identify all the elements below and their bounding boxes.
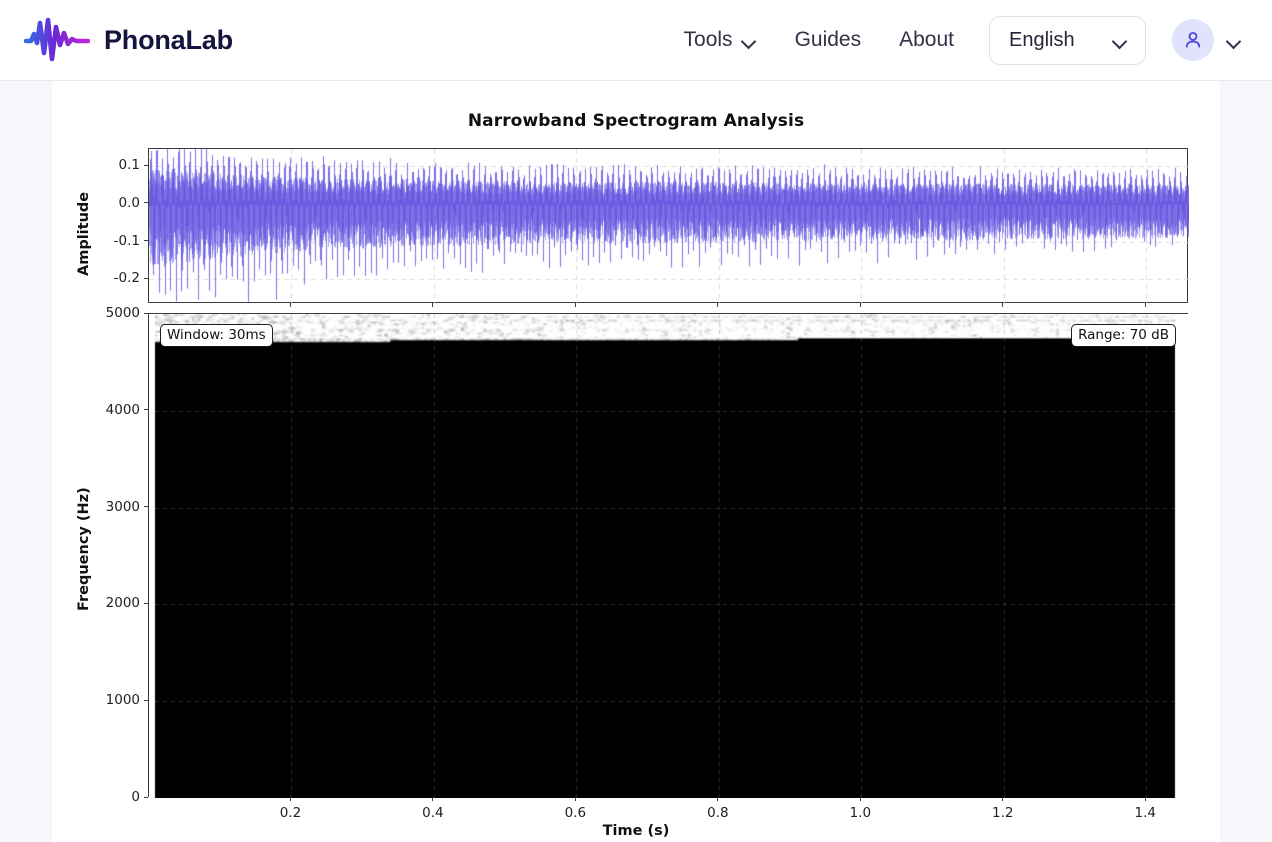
spectrogram-y-tick: 5000 [96, 305, 140, 321]
page-background: Narrowband Spectrogram Analysis Window: … [0, 81, 1272, 842]
x-tick: 1.4 [1135, 805, 1156, 821]
tick-mark [144, 700, 148, 701]
waveform-y-tick: 0.1 [102, 157, 140, 173]
spectrogram-y-tick: 3000 [96, 499, 140, 515]
tick-mark [717, 303, 718, 307]
nav-item-label: Guides [795, 28, 862, 52]
language-selector[interactable]: English [989, 16, 1146, 65]
waveform-y-axis-label: Amplitude [76, 192, 92, 276]
tick-mark [290, 797, 291, 801]
x-tick: 0.2 [280, 805, 301, 821]
avatar[interactable] [1172, 19, 1214, 61]
tick-mark [144, 165, 148, 166]
window-annotation: Window: 30ms [160, 324, 273, 347]
account-menu[interactable] [1172, 19, 1242, 61]
x-tick: 1.2 [992, 805, 1013, 821]
tick-mark [575, 797, 576, 801]
tick-mark [1002, 303, 1003, 307]
spectrogram-y-tick: 1000 [96, 692, 140, 708]
tick-mark [860, 303, 861, 307]
tick-mark [575, 303, 576, 307]
waveform-logo-icon [24, 17, 90, 63]
spectrogram-y-axis-label: Frequency (Hz) [76, 487, 92, 611]
page-title: Narrowband Spectrogram Analysis [52, 111, 1220, 131]
x-tick: 0.8 [707, 805, 728, 821]
x-tick: 0.6 [565, 805, 586, 821]
spectrogram-y-tick: 4000 [96, 402, 140, 418]
tick-mark [144, 603, 148, 604]
brand-name: PhonaLab [104, 25, 233, 56]
tick-mark [144, 506, 148, 507]
tick-mark [144, 202, 148, 203]
chevron-down-icon [1113, 36, 1128, 45]
tick-mark [1002, 797, 1003, 801]
chevron-down-icon [742, 36, 757, 45]
x-tick: 0.4 [422, 805, 443, 821]
tick-mark [432, 303, 433, 307]
tick-mark [1145, 303, 1146, 307]
nav-item-label: About [899, 28, 954, 52]
tick-mark [860, 797, 861, 801]
waveform-y-tick: -0.2 [102, 270, 140, 286]
tick-mark [432, 797, 433, 801]
spectrogram-y-tick: 2000 [96, 595, 140, 611]
nav-item-label: Tools [684, 28, 733, 52]
x-axis-label: Time (s) [52, 823, 1220, 839]
tick-mark [144, 240, 148, 241]
user-person-icon [1181, 28, 1205, 52]
spectrogram-figure: Narrowband Spectrogram Analysis Window: … [52, 81, 1220, 842]
brand[interactable]: PhonaLab [24, 17, 233, 63]
nav-item-tools[interactable]: Tools [665, 28, 776, 52]
tick-mark [144, 313, 148, 314]
tick-mark [144, 278, 148, 279]
tick-mark [144, 409, 148, 410]
waveform-plot[interactable] [148, 148, 1188, 303]
site-header: PhonaLab Tools Guides About English [0, 0, 1272, 81]
chevron-down-icon [1227, 36, 1242, 45]
nav-item-guides[interactable]: Guides [776, 28, 881, 52]
tick-mark [290, 303, 291, 307]
range-annotation: Range: 70 dB [1071, 324, 1176, 347]
spectrogram-plot[interactable]: Window: 30ms Range: 70 dB [148, 313, 1188, 797]
main-navigation: Tools Guides About English [665, 16, 1242, 65]
tick-mark [717, 797, 718, 801]
x-tick: 1.0 [850, 805, 871, 821]
analysis-card: Narrowband Spectrogram Analysis Window: … [52, 81, 1220, 842]
tick-mark [144, 797, 148, 798]
tick-mark [1145, 797, 1146, 801]
nav-item-about[interactable]: About [880, 28, 973, 52]
spectrogram-y-tick: 0 [96, 789, 140, 805]
language-value: English [1009, 29, 1075, 52]
waveform-y-tick: -0.1 [102, 233, 140, 249]
waveform-y-tick: 0.0 [102, 195, 140, 211]
